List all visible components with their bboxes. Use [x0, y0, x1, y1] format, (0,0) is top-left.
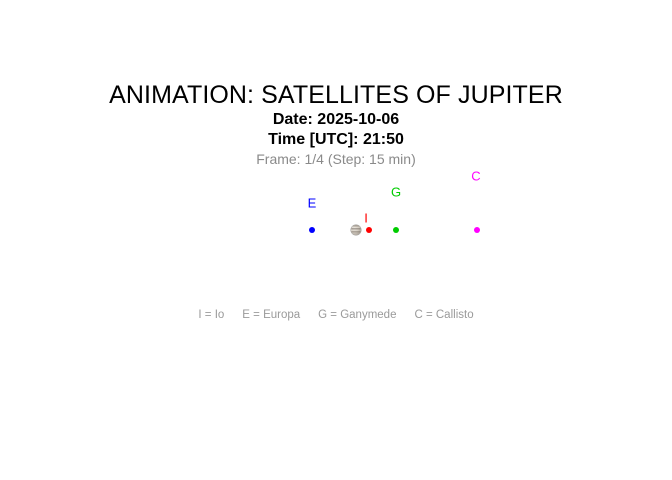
legend-entry: I = Io	[198, 308, 224, 322]
legend-entry: G = Ganymede	[318, 308, 396, 322]
moon-label-callisto: C	[471, 170, 480, 183]
moon-label-europa: E	[308, 197, 317, 210]
satellite-plot: EIGC	[0, 0, 672, 480]
moon-dot-io	[366, 227, 372, 233]
moon-dot-ganymede	[393, 227, 399, 233]
moon-dot-europa	[309, 227, 315, 233]
legend-entry: E = Europa	[242, 308, 300, 322]
jupiter-disk	[351, 225, 361, 235]
moon-label-io: I	[364, 212, 368, 225]
animation-canvas: ANIMATION: SATELLITES OF JUPITER Date: 2…	[0, 0, 672, 480]
legend-entry: C = Callisto	[414, 308, 473, 322]
legend: I = IoE = EuropaG = GanymedeC = Callisto	[0, 308, 672, 322]
moon-dot-callisto	[474, 227, 480, 233]
moon-label-ganymede: G	[391, 186, 401, 199]
